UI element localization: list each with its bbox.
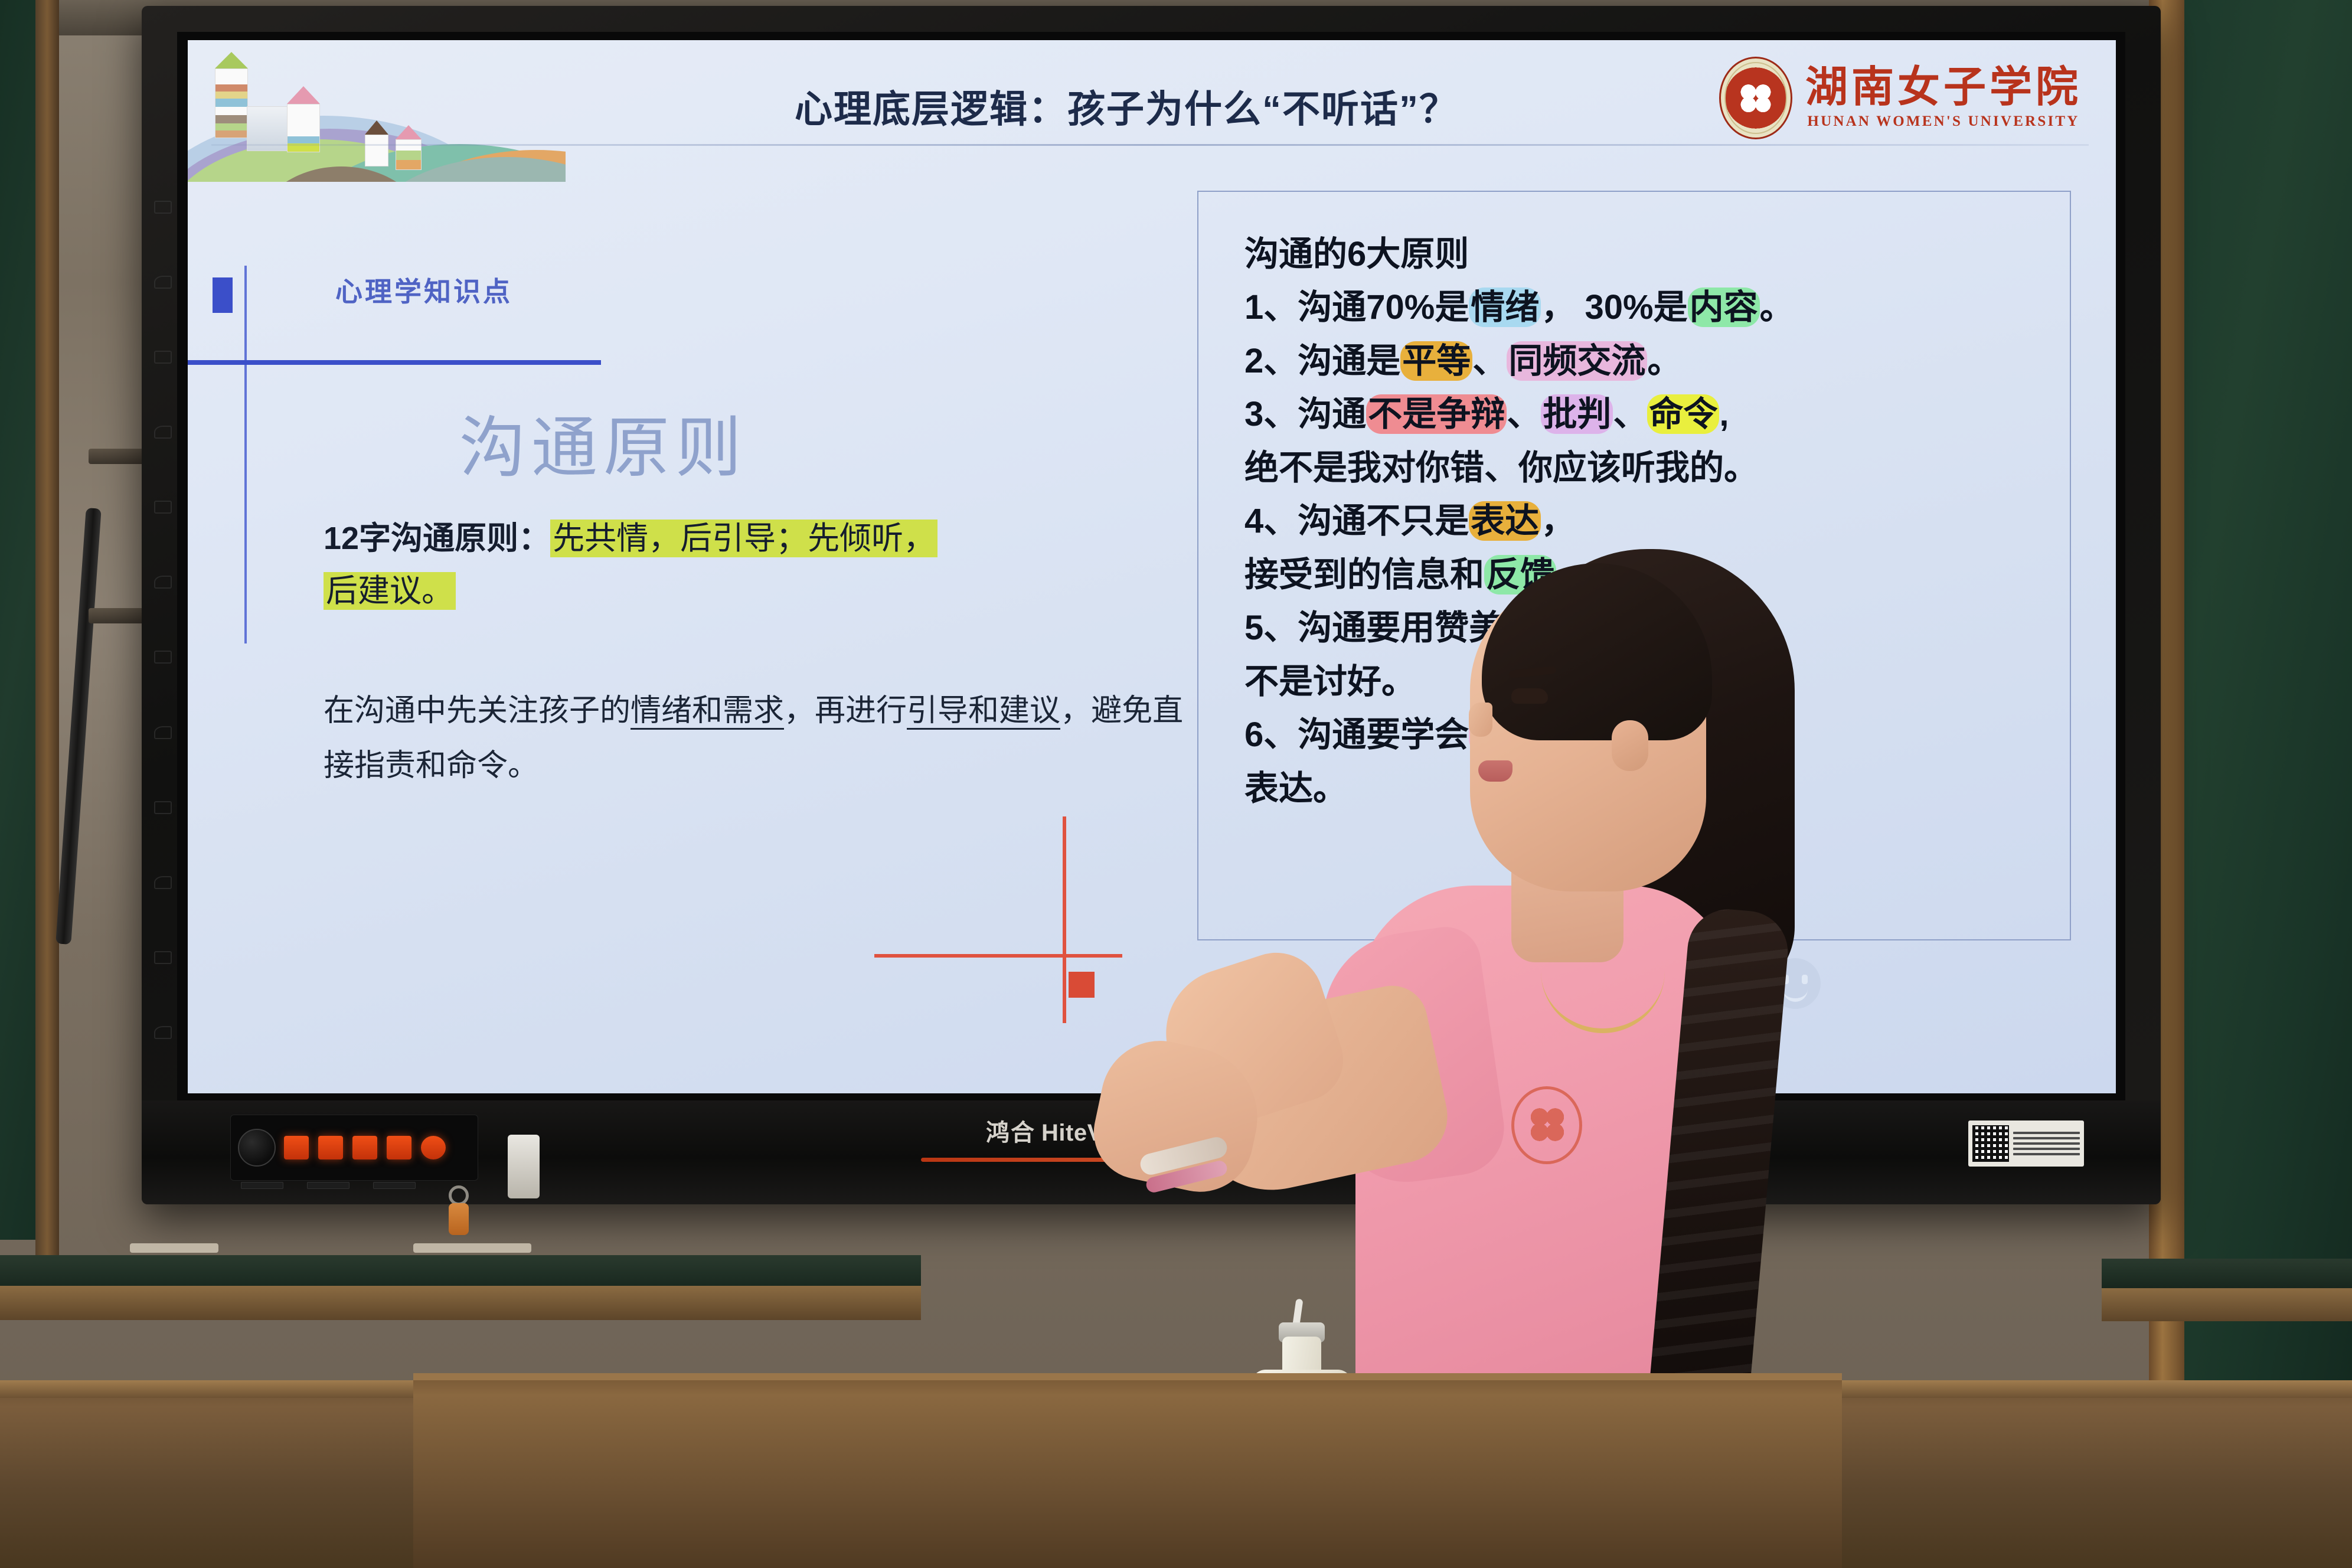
usb-port-1[interactable] xyxy=(241,1182,283,1189)
hl-content: 内容 xyxy=(1688,288,1760,327)
eye xyxy=(1511,688,1548,704)
hl-equal: 平等 xyxy=(1400,341,1472,381)
classroom-scene: 心理底层逻辑：孩子为什么“不听话”？ 湖南女子学院 HUNAN WOMEN'S … xyxy=(0,0,2352,1568)
pointer-icon[interactable] xyxy=(154,576,172,589)
port-row[interactable] xyxy=(241,1182,416,1189)
hl-sync: 同频交流 xyxy=(1507,341,1647,381)
mouth xyxy=(1478,760,1513,782)
hl-command: 命令 xyxy=(1647,394,1719,434)
item-2-number: 2、 xyxy=(1244,342,1298,380)
brand-cn: 鸿合 xyxy=(986,1120,1035,1146)
section-heading: 沟通原则 xyxy=(459,394,747,490)
explanation-part1: 在沟通中先关注孩子的 xyxy=(324,694,631,728)
item-5-number: 5、 xyxy=(1244,609,1298,647)
principle-highlight-line1: 先共情，后引导；先倾听， xyxy=(550,520,937,557)
principle-block: 12字沟通原则：先共情，后引导；先倾听， 后建议。 xyxy=(324,512,1185,618)
list-item-3: 3、沟通不是争辩、批判、命令, xyxy=(1244,388,2077,441)
qr-code-icon xyxy=(1972,1125,2009,1162)
chalk-piece-1 xyxy=(130,1243,218,1253)
podium xyxy=(413,1373,1842,1568)
power-icon[interactable] xyxy=(154,201,172,214)
led-button-4[interactable] xyxy=(387,1136,411,1159)
chalkboard-left-frame xyxy=(35,0,59,1269)
key-hook xyxy=(449,1185,472,1242)
file-icon[interactable] xyxy=(154,876,172,889)
bezel-icon-strip[interactable] xyxy=(150,201,176,1039)
chalk-ledge-left xyxy=(0,1255,921,1291)
red-bracket-horizontal xyxy=(874,954,1122,958)
hdmi-port[interactable] xyxy=(373,1182,416,1189)
ear xyxy=(1612,720,1648,771)
screen-icon[interactable] xyxy=(154,351,172,364)
usb-flash-drive[interactable] xyxy=(508,1135,540,1198)
accent-square xyxy=(213,277,233,313)
whiteboard-icon[interactable] xyxy=(154,1026,172,1039)
usb-port-2[interactable] xyxy=(307,1182,349,1189)
chalk-ledge-right xyxy=(2102,1259,2352,1291)
chalkboard-right xyxy=(2184,0,2352,1387)
annotate-icon[interactable] xyxy=(154,801,172,814)
accent-horizontal-line xyxy=(188,360,601,365)
university-crest-icon xyxy=(1719,57,1792,139)
item-4-number: 4、 xyxy=(1244,502,1298,540)
source-icon[interactable] xyxy=(154,426,172,439)
principle-label: 12字沟通原则： xyxy=(324,521,550,556)
logo-name-cn: 湖南女子学院 xyxy=(1805,66,2082,109)
list-item-3-cont: 绝不是我对你错、你应该听我的。 xyxy=(1244,442,2077,495)
led-button-row[interactable] xyxy=(284,1136,446,1159)
university-logo: 湖南女子学院 HUNAN WOMEN'S UNIVERSITY xyxy=(1719,57,2082,139)
shirt-crest-icon xyxy=(1511,1086,1582,1164)
cast-icon[interactable] xyxy=(154,501,172,514)
village-illustration xyxy=(188,40,566,182)
explanation-underline2: 引导和建议 xyxy=(907,694,1060,730)
item-6-number: 6、 xyxy=(1244,716,1298,754)
chalk-piece-2 xyxy=(413,1243,531,1253)
led-button-power[interactable] xyxy=(421,1136,446,1159)
item-1-number: 1、 xyxy=(1244,288,1298,326)
accent-vertical-line xyxy=(244,266,247,643)
eraser-icon[interactable] xyxy=(154,726,172,739)
principles-heading: 沟通的6大原则 xyxy=(1244,228,2077,281)
keyboard-icon[interactable] xyxy=(154,951,172,964)
led-button-3[interactable] xyxy=(352,1136,377,1159)
slide-title: 心理底层逻辑：孩子为什么“不听话”？ xyxy=(518,79,1734,133)
power-knob[interactable] xyxy=(238,1129,276,1167)
principle-highlight-line2: 后建议。 xyxy=(324,572,456,610)
red-bracket-vertical xyxy=(1063,816,1066,1023)
section-kicker: 心理学知识点 xyxy=(335,270,512,309)
asset-label xyxy=(1968,1121,2084,1167)
list-item-2: 2、沟通是平等、同频交流。 xyxy=(1244,335,2077,388)
list-item-1: 1、沟通70%是情绪， 30%是内容。 xyxy=(1244,281,2077,334)
led-button-1[interactable] xyxy=(284,1136,309,1159)
chalk-ledge-left-wood xyxy=(0,1286,921,1320)
explanation-underline1: 情绪和需求 xyxy=(631,694,784,730)
list-item-4: 4、沟通不只是表达， xyxy=(1244,495,2077,548)
home-icon[interactable] xyxy=(154,276,172,289)
red-accent-square xyxy=(1069,972,1095,998)
explanation-part2: ，再进行 xyxy=(784,694,907,728)
led-button-2[interactable] xyxy=(318,1136,343,1159)
principle-explanation: 在沟通中先关注孩子的情绪和需求，再进行引导和建议，避免直接指责和命令。 xyxy=(324,684,1185,793)
pen-icon[interactable] xyxy=(154,651,172,664)
chalk-ledge-right-wood xyxy=(2102,1288,2352,1321)
item-3-number: 3、 xyxy=(1244,395,1298,433)
hl-not-argue: 不是争辩 xyxy=(1366,394,1507,434)
hl-criticize: 批判 xyxy=(1541,394,1613,434)
wall-cable xyxy=(55,508,102,945)
hl-express: 表达 xyxy=(1469,501,1541,541)
title-divider xyxy=(211,144,2089,146)
asset-label-lines xyxy=(2013,1132,2080,1155)
panel-control-panel[interactable] xyxy=(230,1115,478,1181)
hl-emotion: 情绪 xyxy=(1469,288,1541,327)
nose xyxy=(1469,703,1492,737)
logo-name-en: HUNAN WOMEN'S UNIVERSITY xyxy=(1807,113,2079,130)
